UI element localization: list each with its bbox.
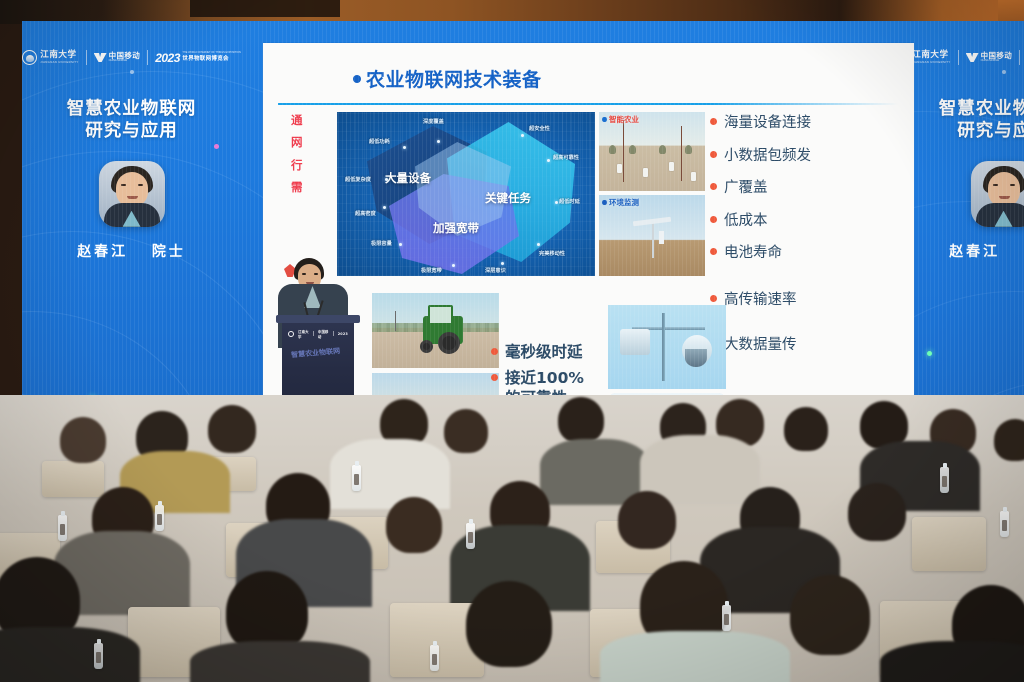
speaker-portrait bbox=[99, 161, 165, 227]
bullet-text-6: 大数据量传 bbox=[724, 333, 797, 354]
bullet-dot-icon bbox=[710, 118, 717, 125]
radar-label-2: 超高可靠性 bbox=[553, 154, 579, 161]
bullet-dot-icon bbox=[710, 151, 717, 158]
radar-label-5: 深层意识 bbox=[485, 267, 506, 274]
logo-divider-1 bbox=[86, 50, 87, 65]
radar-label-3: 超低时延 bbox=[559, 198, 580, 205]
bullet-text-3: 低成本 bbox=[724, 209, 768, 230]
university-logo: 江南大学 JIANGNAN UNIVERSITY bbox=[22, 50, 78, 65]
water-bottle bbox=[352, 465, 361, 491]
audience-torso bbox=[330, 439, 450, 509]
podium-logo-row: 江南大学 中国移动 2023 bbox=[288, 330, 348, 337]
banner-title-line2: 研究与应用 bbox=[22, 120, 241, 142]
slide-vertical-label: 通 网 行 需 bbox=[291, 109, 303, 199]
audience-head bbox=[994, 419, 1024, 461]
logo-accent-dot bbox=[130, 70, 134, 74]
audience-head bbox=[558, 397, 604, 443]
photo-label-dot-icon-2 bbox=[602, 200, 607, 205]
audience-torso bbox=[190, 641, 370, 682]
sponsor-name-en: CHINA MOBILE bbox=[109, 60, 141, 63]
audience-head bbox=[618, 491, 676, 549]
audience-head bbox=[466, 581, 552, 667]
photo-label-smart-agriculture: 智能农业 bbox=[602, 114, 639, 125]
vlabel-char-0: 通 bbox=[291, 109, 303, 131]
photo-smart-agriculture: 智能农业 bbox=[599, 112, 705, 191]
slide-title-bullet-icon bbox=[353, 75, 361, 83]
radar-center-label-2: 加强宽带 bbox=[433, 220, 479, 236]
water-bottle bbox=[94, 643, 103, 669]
logo-divider-right-2 bbox=[1019, 50, 1020, 65]
photo-environment-monitoring: 环境监测 bbox=[599, 195, 705, 276]
audience-head bbox=[790, 575, 870, 655]
banner-left: 江南大学 JIANGNAN UNIVERSITY 中国移动 CHINA MOBI… bbox=[22, 21, 241, 451]
banner-accent-dot bbox=[214, 144, 219, 149]
bullet-dot-icon bbox=[710, 248, 717, 255]
university-name-en: JIANGNAN UNIVERSITY bbox=[40, 61, 78, 64]
bullet-dot-icon bbox=[491, 348, 498, 355]
audience-area bbox=[0, 395, 1024, 682]
logo-divider-right-1 bbox=[958, 50, 959, 65]
logo-divider-2 bbox=[147, 50, 148, 65]
photo-label-environment-monitoring: 环境监测 bbox=[602, 197, 639, 208]
radar-center-label-1: 关键任务 bbox=[485, 190, 531, 206]
bullet-dot-icon bbox=[710, 216, 717, 223]
logo-accent-dot-right bbox=[1002, 70, 1006, 74]
ceiling-dark-panel bbox=[190, 0, 340, 17]
expo-name-en: THE WORLD INTERNET OF THINGS EXPOSITION bbox=[182, 52, 240, 55]
radar-label-6: 极限宽带 bbox=[421, 267, 442, 274]
sponsor-logo-right: 中国移动 CHINA MOBILE bbox=[966, 52, 1013, 63]
bullet-item: 低成本 bbox=[710, 209, 811, 230]
presentation-slide: 农业物联网技术装备 通 网 行 需 大量设备 关键任务 加强宽带 bbox=[263, 43, 914, 450]
audience-head bbox=[208, 405, 256, 453]
radar-label-1: 超安全性 bbox=[529, 125, 550, 132]
audience-torso bbox=[600, 631, 790, 682]
audience-torso bbox=[0, 627, 140, 682]
speaker-credit: 赵春江 院士 bbox=[22, 241, 241, 261]
audience-head bbox=[60, 417, 106, 463]
podium-university-seal-icon bbox=[288, 331, 294, 337]
radar-label-10: 超低功耗 bbox=[369, 138, 390, 145]
radar-label-4: 完美移动性 bbox=[539, 250, 565, 257]
water-bottle bbox=[722, 605, 731, 631]
vlabel-char-3: 需 bbox=[291, 176, 303, 198]
logo-row: 江南大学 JIANGNAN UNIVERSITY 中国移动 CHINA MOBI… bbox=[22, 21, 241, 65]
led-wall: 江南大学 JIANGNAN UNIVERSITY 中国移动 CHINA MOBI… bbox=[22, 21, 1024, 451]
university-name-cn: 江南大学 bbox=[40, 51, 78, 60]
slide-title-text: 农业物联网技术装备 bbox=[366, 65, 542, 92]
bullet-text-5: 高传输速率 bbox=[724, 288, 797, 309]
bullet-text-1: 小数据包频发 bbox=[724, 144, 811, 165]
bullet-text-4: 电池寿命 bbox=[724, 241, 782, 262]
bullet-dot-icon bbox=[710, 295, 717, 302]
audience-head bbox=[386, 497, 442, 553]
photo-tractor bbox=[372, 293, 499, 368]
conference-photo: 江南大学 JIANGNAN UNIVERSITY 中国移动 CHINA MOBI… bbox=[0, 0, 1024, 682]
speaker-title: 院士 bbox=[152, 244, 186, 260]
sponsor-logo: 中国移动 CHINA MOBILE bbox=[94, 52, 141, 63]
radar-label-9: 超低复杂度 bbox=[345, 176, 371, 183]
audience-head bbox=[784, 407, 828, 451]
bullet-dot-icon bbox=[710, 183, 717, 190]
banner-title-line1: 智慧农业物联网 bbox=[22, 98, 241, 120]
slide-title: 农业物联网技术装备 bbox=[353, 65, 542, 92]
vlabel-char-1: 网 bbox=[291, 131, 303, 153]
bullet-item: 小数据包频发 bbox=[710, 144, 811, 165]
podium-top bbox=[276, 315, 360, 323]
podium-logo-expo: 2023 bbox=[338, 332, 348, 336]
university-name-en-right: JIANGNAN UNIVERSITY bbox=[912, 61, 950, 64]
radar-label-8: 超高密度 bbox=[355, 210, 376, 217]
bullet-item: 海量设备连接 bbox=[710, 111, 811, 132]
radar-diagram: 大量设备 关键任务 加强宽带 深度覆盖 超安全性 超高可靠性 超低时延 完美移动… bbox=[337, 112, 595, 276]
audience-torso bbox=[880, 641, 1024, 682]
podium-logo-cn: 江南大学 bbox=[298, 329, 309, 339]
university-seal-icon bbox=[22, 50, 37, 65]
bullet-dot-icon bbox=[491, 374, 498, 381]
speaker-name-right: 赵春江 bbox=[949, 244, 1000, 260]
bullet-text-2: 广覆盖 bbox=[724, 176, 768, 197]
radar-center-label-0: 大量设备 bbox=[385, 170, 431, 186]
water-bottle bbox=[466, 523, 475, 549]
bullet-text-0: 海量设备连接 bbox=[724, 111, 811, 132]
expo-logo: 2023 THE WORLD INTERNET OF THINGS EXPOSI… bbox=[155, 52, 241, 64]
photo-label-text-1: 环境监测 bbox=[609, 197, 639, 208]
sponsor-mark-icon bbox=[94, 53, 107, 62]
bullet-item: 广覆盖 bbox=[710, 176, 811, 197]
photo-label-dot-icon bbox=[602, 117, 607, 122]
university-name-cn-right: 江南大学 bbox=[912, 51, 950, 60]
banner-title: 智慧农业物联网 研究与应用 bbox=[22, 98, 241, 143]
water-bottle bbox=[155, 505, 164, 531]
radar-label-7: 极限容量 bbox=[371, 240, 392, 247]
expo-name-cn: 世界物联网博览会 bbox=[182, 56, 240, 62]
water-bottle bbox=[940, 467, 949, 493]
mid-bullet-line-1: 接近100% bbox=[505, 369, 584, 387]
water-bottle bbox=[58, 515, 67, 541]
water-bottle bbox=[1000, 511, 1009, 537]
speaker-portrait-right bbox=[971, 161, 1024, 227]
photo-label-text-0: 智能农业 bbox=[609, 114, 639, 125]
vlabel-char-2: 行 bbox=[291, 154, 303, 176]
sponsor-mark-icon-right bbox=[966, 53, 979, 62]
audience-head bbox=[444, 409, 488, 453]
radar-label-0: 深度覆盖 bbox=[423, 118, 444, 125]
water-bottle bbox=[430, 645, 439, 671]
speaker-name: 赵春江 bbox=[77, 244, 128, 260]
mid-bullet-item: 毫秒级时延 bbox=[491, 343, 584, 362]
podium-logo-sponsor: 中国移动 bbox=[318, 329, 329, 339]
audience-head bbox=[848, 483, 906, 541]
chair-back bbox=[912, 517, 986, 571]
photo-dome-camera bbox=[608, 305, 726, 389]
sponsor-name-en-right: CHINA MOBILE bbox=[981, 60, 1013, 63]
mid-bullet-text-0: 毫秒级时延 bbox=[505, 343, 583, 362]
slide-title-rule bbox=[278, 103, 898, 105]
bullet-item: 电池寿命 bbox=[710, 241, 811, 262]
expo-year: 2023 bbox=[155, 52, 180, 64]
chair-back bbox=[42, 461, 104, 497]
